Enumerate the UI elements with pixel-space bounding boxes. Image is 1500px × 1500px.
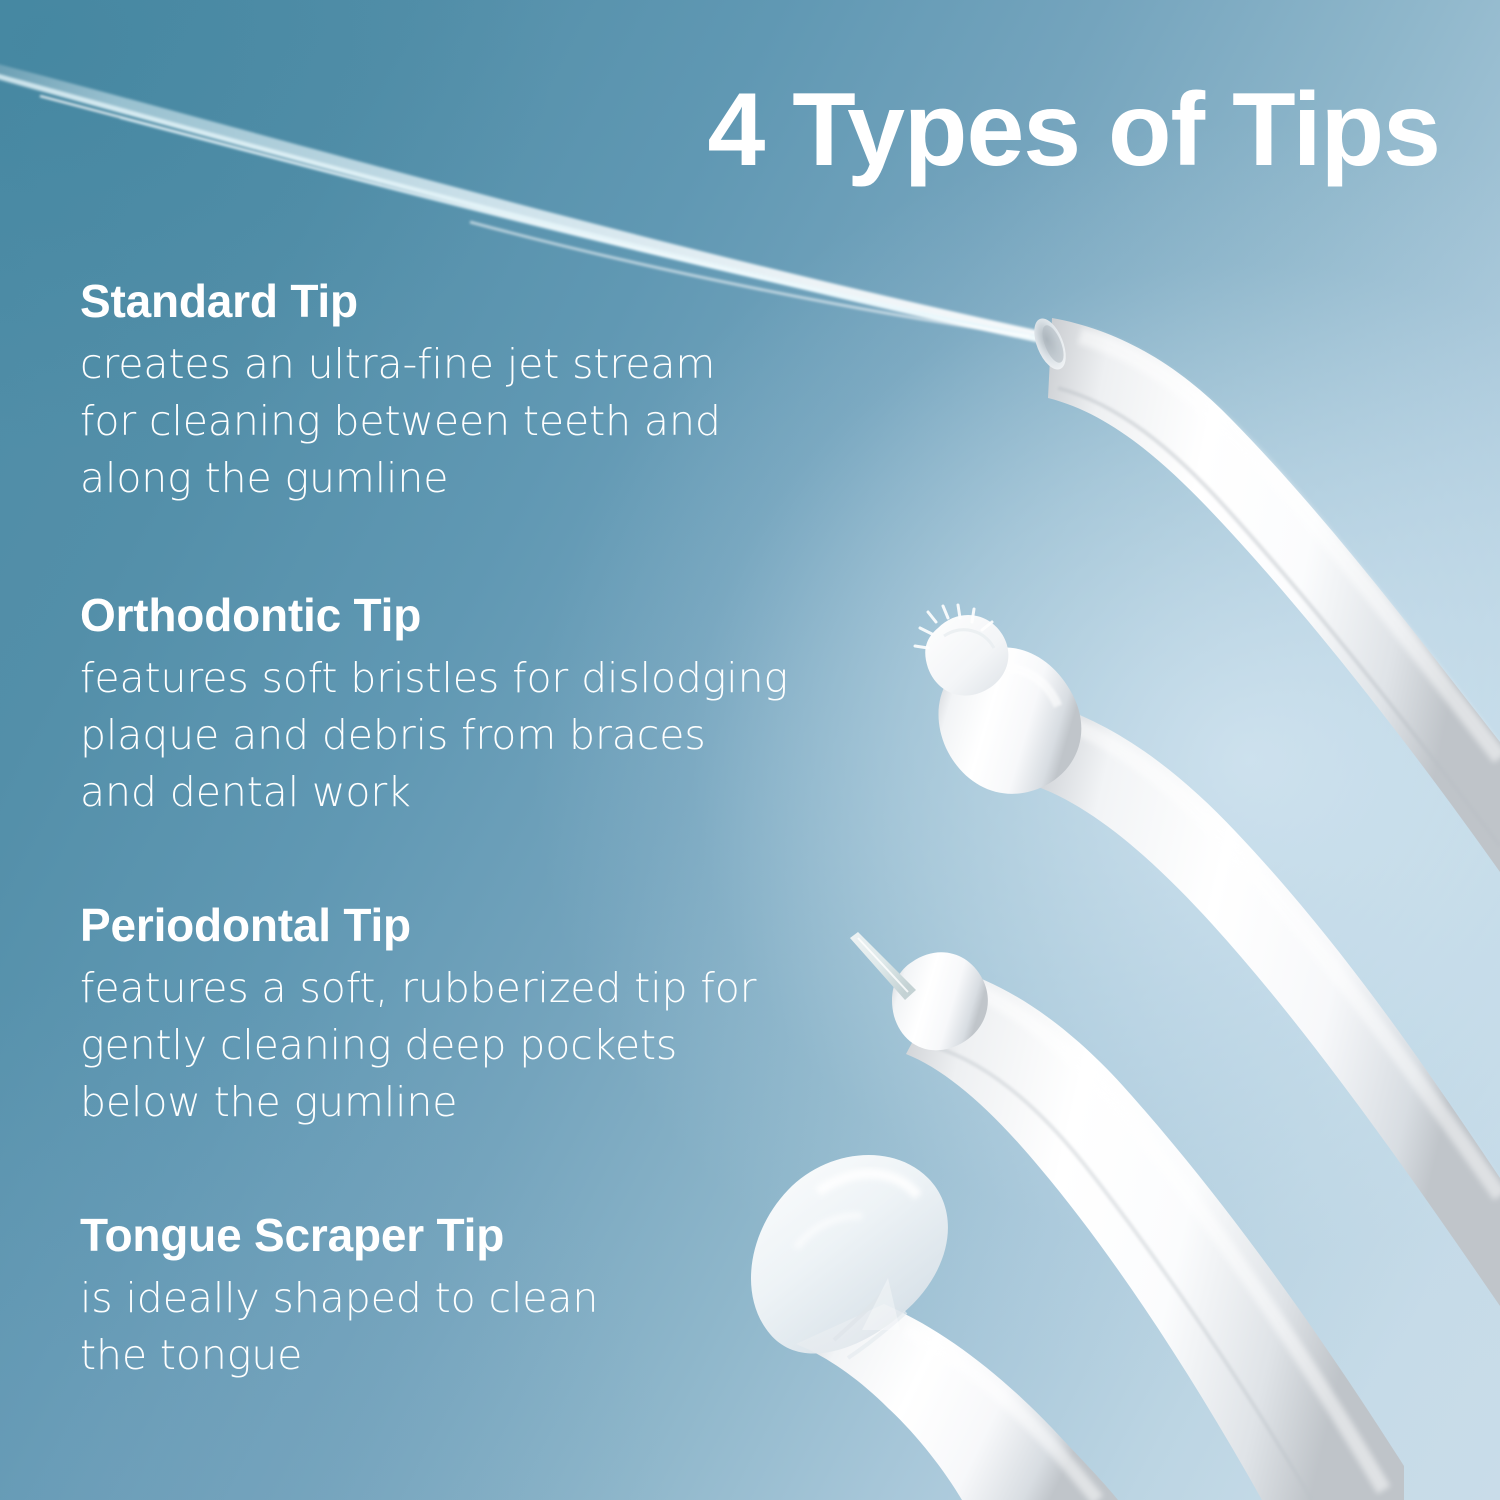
tip-line: features soft bristles for dislodging: [80, 650, 880, 707]
tip-description-orthodontic: features soft bristles for dislodging pl…: [80, 650, 880, 821]
tip-line: gently cleaning deep pockets: [80, 1017, 880, 1074]
tip-line: is ideally shaped to clean: [80, 1270, 880, 1327]
tip-line: for cleaning between teeth and: [80, 393, 880, 450]
tip-description-tongue-scraper: is ideally shaped to clean the tongue: [80, 1270, 880, 1384]
periodontal-tip-artwork: [850, 932, 1404, 1500]
standard-tip-artwork: [1028, 314, 1500, 872]
tip-line: creates an ultra-fine jet stream: [80, 336, 880, 393]
tip-line: the tongue: [80, 1327, 880, 1384]
tip-block-orthodontic: Orthodontic Tip features soft bristles f…: [80, 592, 880, 821]
standard-tip-opening: [1028, 314, 1072, 374]
orthodontic-tip-artwork: [915, 605, 1500, 1306]
tip-line: along the gumline: [80, 450, 880, 507]
tip-heading-orthodontic: Orthodontic Tip: [80, 592, 880, 638]
orthodontic-bristles: [925, 615, 1008, 696]
infographic-poster: 4 Types of Tips Standard Tip creates an …: [0, 0, 1500, 1500]
tip-line: plaque and debris from braces: [80, 707, 880, 764]
tip-block-periodontal: Periodontal Tip features a soft, rubberi…: [80, 902, 880, 1131]
orthodontic-collar: [938, 647, 1081, 794]
tip-description-periodontal: features a soft, rubberized tip for gent…: [80, 960, 880, 1131]
tip-description-standard: creates an ultra-fine jet stream for cle…: [80, 336, 880, 507]
tip-heading-periodontal: Periodontal Tip: [80, 902, 880, 948]
tip-block-tongue-scraper: Tongue Scraper Tip is ideally shaped to …: [80, 1212, 880, 1384]
tip-heading-tongue-scraper: Tongue Scraper Tip: [80, 1212, 880, 1258]
tips-list: Standard Tip creates an ultra-fine jet s…: [80, 0, 900, 1500]
tip-heading-standard: Standard Tip: [80, 278, 880, 324]
tip-line: features a soft, rubberized tip for: [80, 960, 880, 1017]
tip-line: below the gumline: [80, 1074, 880, 1131]
tip-block-standard: Standard Tip creates an ultra-fine jet s…: [80, 278, 880, 507]
tip-line: and dental work: [80, 764, 880, 821]
